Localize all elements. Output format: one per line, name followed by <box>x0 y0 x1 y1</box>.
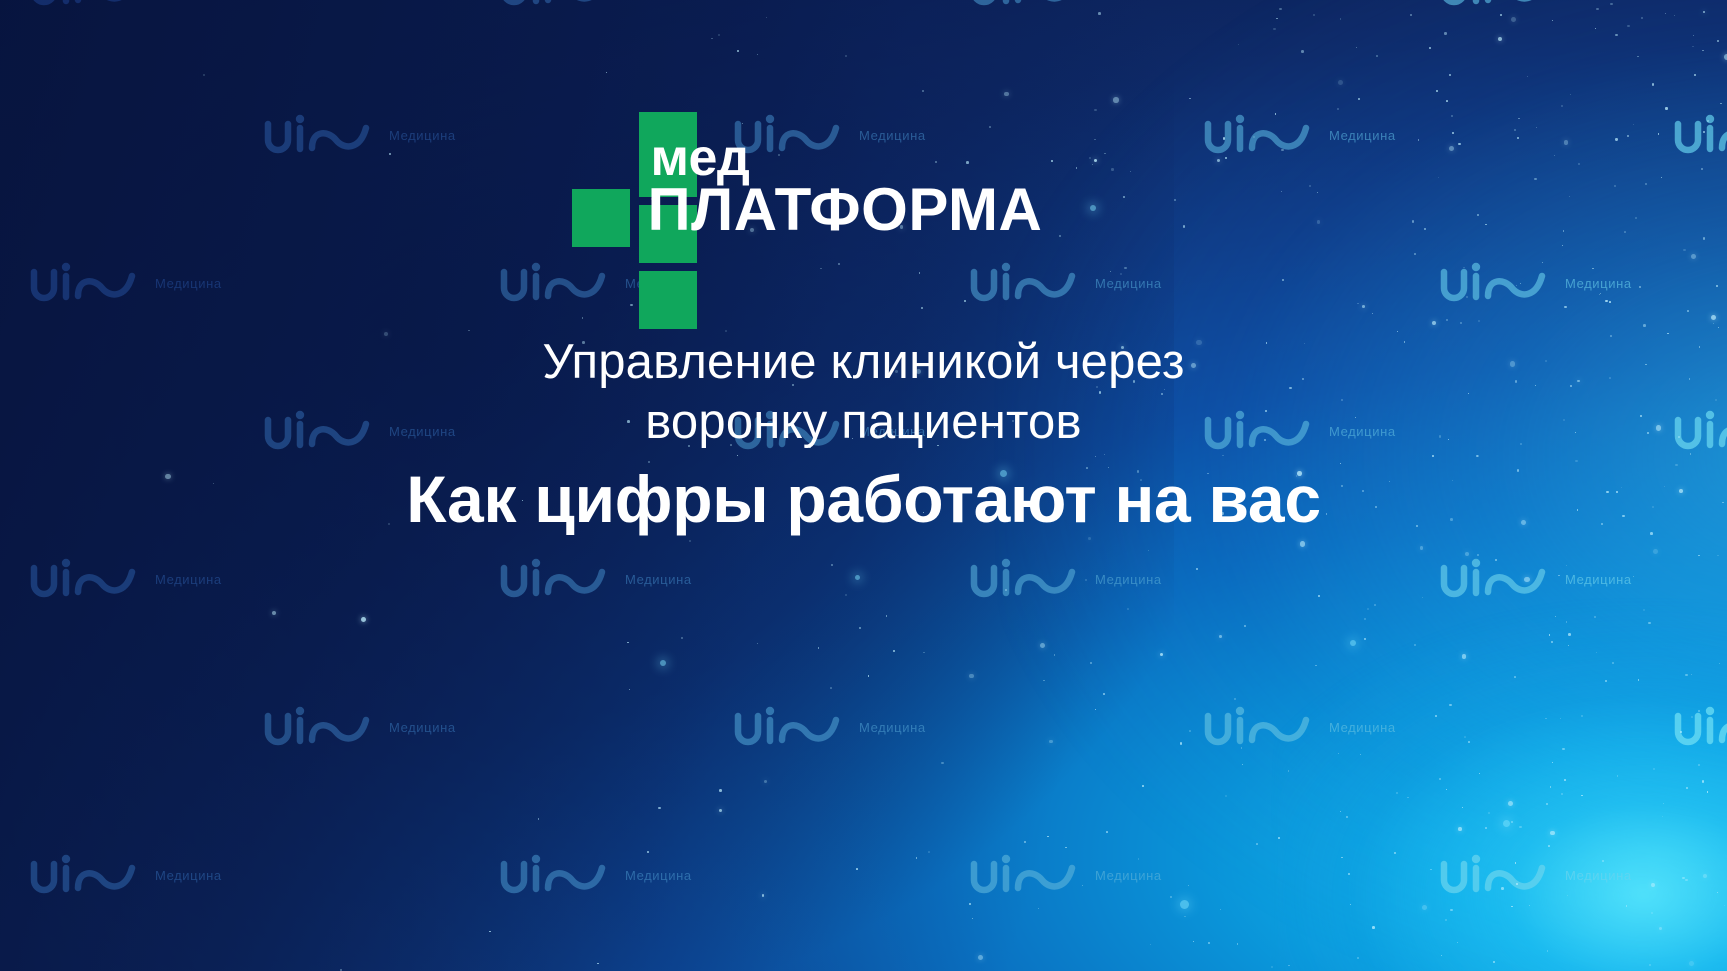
brand-wordmark: мед ПЛАТФОРМА <box>648 134 1043 238</box>
brand-word-bottom: ПЛАТФОРМА <box>648 181 1043 238</box>
subtitle-line-2: воронку пациентов <box>542 393 1184 453</box>
subtitle-line-1: Управление клиникой через <box>542 333 1184 393</box>
slide-subtitle: Управление клиникой через воронку пациен… <box>542 333 1184 453</box>
brand-logo-lockup: мед ПЛАТФОРМА <box>564 112 1164 307</box>
presentation-slide: МедицинаМедицинаМедицинаМедицинаМедицина… <box>0 0 1727 971</box>
slide-content: мед ПЛАТФОРМА Управление клиникой через … <box>0 0 1727 971</box>
slide-headline: Как цифры работают на вас <box>406 465 1320 534</box>
